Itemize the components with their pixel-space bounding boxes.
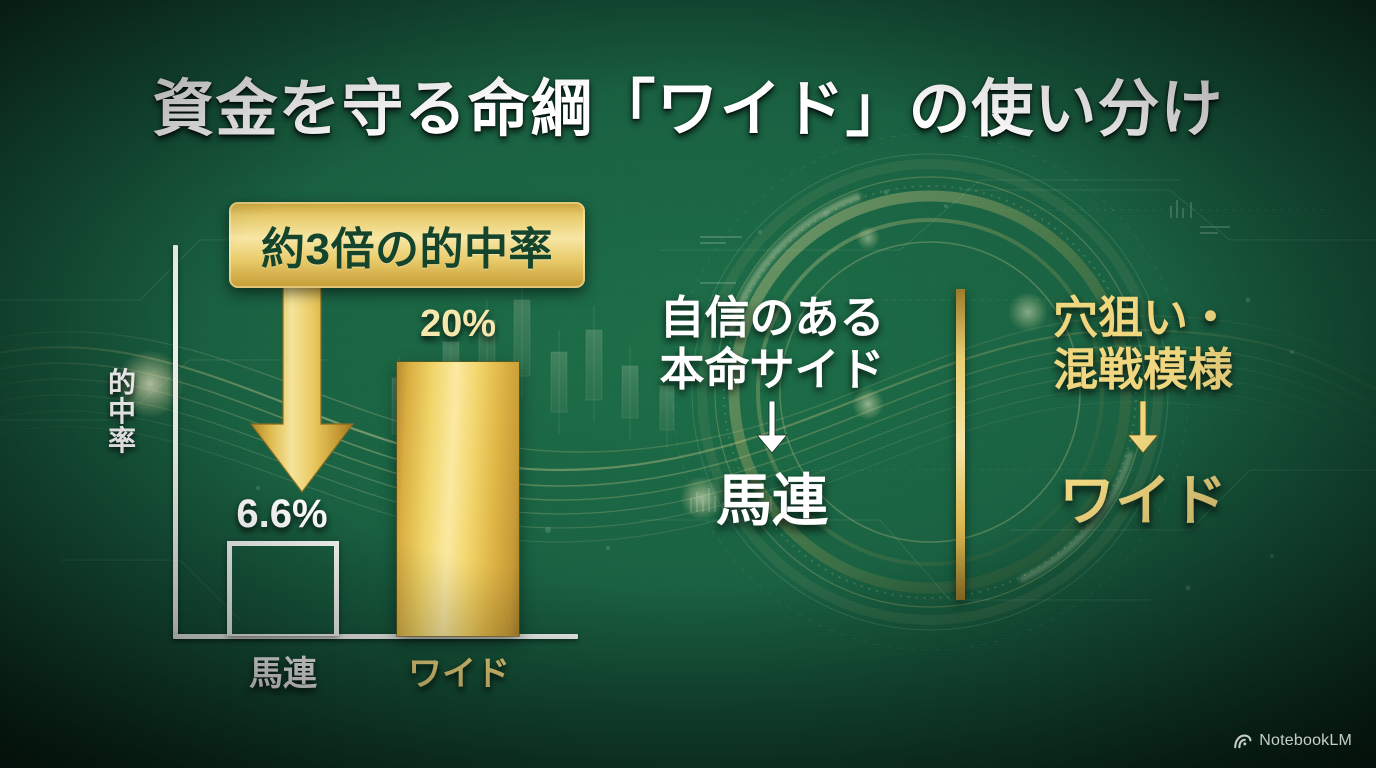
- panel-ana-term: ワイド: [988, 456, 1298, 537]
- y-axis-char-2: 中: [102, 397, 142, 426]
- bar-wide: [397, 362, 519, 636]
- multiplier-badge: 約3倍の的中率: [229, 202, 585, 288]
- down-arrow-icon: [1126, 401, 1160, 455]
- x-axis-label-wide: ワイド: [386, 646, 532, 695]
- panel-honmei-term: 馬連: [612, 456, 932, 537]
- panel-ana-heading-line1: 穴狙い・: [988, 292, 1298, 344]
- y-axis-char-1: 的: [102, 368, 142, 397]
- multiplier-badge-label: 約3倍の的中率: [261, 213, 553, 277]
- down-arrow-icon: [755, 401, 789, 455]
- panel-ana-arrow-wrap: [988, 400, 1298, 456]
- panel-ana: 穴狙い・ 混戦模様 ワイド: [988, 292, 1298, 537]
- panel-divider: [956, 289, 965, 600]
- panel-ana-heading-line2: 混戦模様: [988, 344, 1298, 396]
- panel-honmei-heading-line2: 本命サイド: [612, 344, 932, 396]
- chart-y-axis-label: 的 中 率: [102, 368, 142, 455]
- x-axis-label-umaren: 馬連: [220, 646, 346, 695]
- page-title: 資金を守る命綱「ワイド」の使い分け: [0, 58, 1376, 148]
- watermark: NotebookLM: [1233, 732, 1352, 750]
- panel-honmei-arrow-wrap: [612, 400, 932, 456]
- panel-honmei: 自信のある 本命サイド 馬連: [612, 292, 932, 537]
- bar-value-wide: 20%: [396, 303, 520, 346]
- panel-honmei-heading-line1: 自信のある: [612, 292, 932, 344]
- notebooklm-icon: [1233, 734, 1252, 749]
- bar-value-umaren: 6.6%: [192, 492, 372, 537]
- chart-y-axis-line: [173, 245, 178, 637]
- gold-down-arrow-icon: [243, 284, 361, 494]
- bar-umaren: [227, 541, 339, 636]
- watermark-label: NotebookLM: [1259, 732, 1352, 750]
- y-axis-char-3: 率: [102, 426, 142, 455]
- slide-root: 資金を守る命綱「ワイド」の使い分け 的 中 率 6.6% 20% 馬連 ワイド …: [0, 0, 1376, 768]
